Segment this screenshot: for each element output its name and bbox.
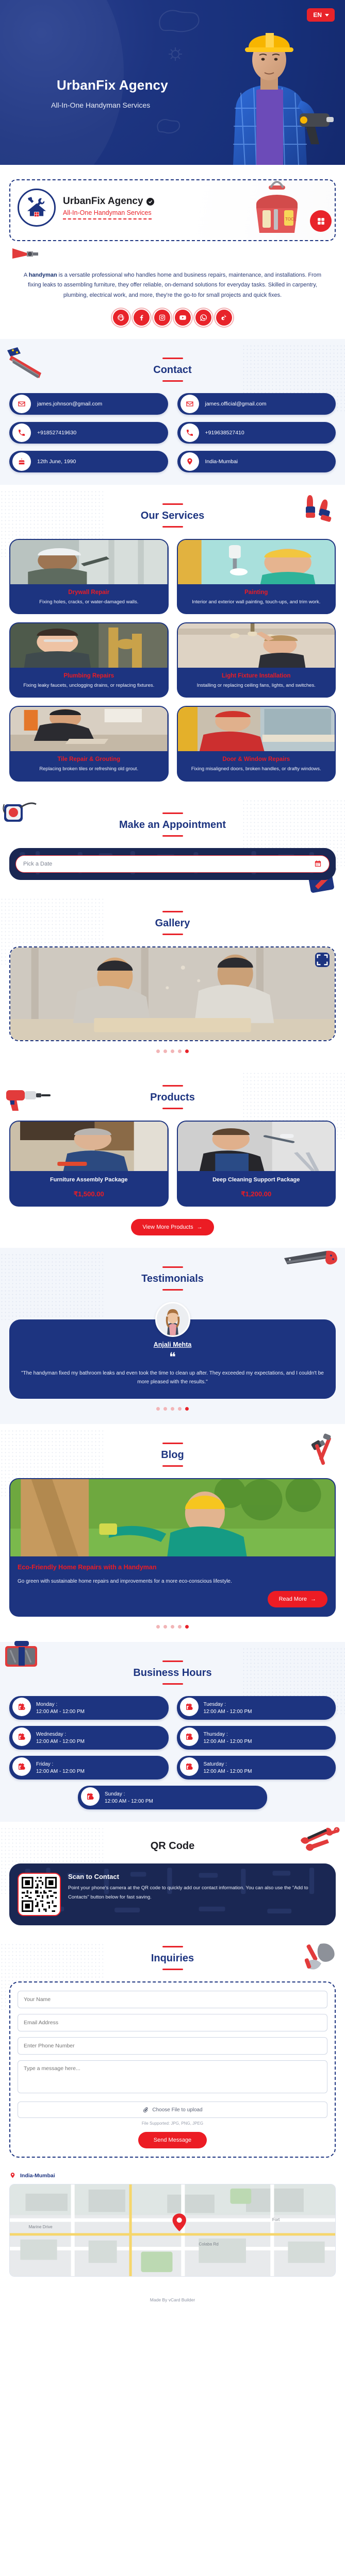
carousel-dot[interactable] (163, 1407, 167, 1411)
qr-code-image[interactable] (18, 1873, 61, 1916)
carousel-dot[interactable] (163, 1625, 167, 1629)
product-price: ₹1,200.00 (182, 1190, 331, 1198)
service-text: Painting Interior and exterior wall pain… (178, 584, 335, 613)
read-more-label: Read More (279, 1596, 307, 1602)
service-text: Plumbing Repairs Fixing leaky faucets, u… (10, 668, 168, 697)
services-title: Our Services (9, 503, 336, 528)
contact-title: Contact (9, 358, 336, 382)
gallery-title: Gallery (9, 911, 336, 935)
contact-item-phone-1[interactable]: +918527419630 (9, 422, 168, 444)
map-embed[interactable]: Marine Drive Colaba Rd Fort (9, 2184, 336, 2277)
contact-value: +918527419630 (37, 430, 76, 436)
carousel-dot[interactable] (178, 1407, 182, 1411)
testimonial-author: Anjali Mehta (21, 1341, 324, 1348)
qr-section: QR Code (0, 1822, 345, 1938)
gear-icon (168, 46, 183, 62)
contact-item-phone-2[interactable]: +919638527410 (177, 422, 336, 444)
carousel-dot[interactable] (163, 1049, 167, 1053)
name-input[interactable] (18, 1991, 327, 2008)
carousel-dot[interactable] (171, 1049, 174, 1053)
gallery-section: Gallery (0, 892, 345, 1066)
service-desc: Interior and exterior wall painting, tou… (183, 599, 330, 606)
hours-day-label: Thursday : (204, 1732, 331, 1737)
service-photo (178, 540, 335, 584)
carousel-dot-active[interactable] (185, 1049, 189, 1053)
hours-day-label: Wednesday : (36, 1732, 163, 1737)
contact-item-email-1[interactable]: james.johnson@gmail.com (9, 393, 168, 415)
blog-post-title: Eco-Friendly Home Repairs with a Handyma… (18, 1564, 327, 1571)
hero-blob-decoration-2 (155, 116, 180, 137)
service-card[interactable]: Light Fixture Installation Installing or… (177, 622, 336, 698)
hours-time-value: 12:00 AM - 12:00 PM (36, 1739, 163, 1744)
business-hours-sunday-row: Sunday : 12:00 AM - 12:00 PM (9, 1786, 336, 1809)
contact-value: India-Mumbai (205, 459, 238, 465)
products-grid: Furniture Assembly Package ₹1,500.00 (9, 1121, 336, 1207)
product-photo (178, 1122, 335, 1171)
email-input[interactable] (18, 2014, 327, 2031)
service-name: Tile Repair & Grouting (15, 756, 162, 762)
qr-card-text: Point your phone's camera at the QR code… (68, 1884, 327, 1901)
testimonial-card-wrap: Anjali Mehta ❝ "The handyman fixed my ba… (9, 1302, 336, 1399)
contact-section: Contact james.johnson@gmail.com james.of… (0, 339, 345, 485)
contact-item-email-2[interactable]: james.official@gmail.com (177, 393, 336, 415)
calendar-icon (314, 860, 322, 868)
blog-carousel-dots (9, 1617, 336, 1630)
handyman-hero-photo (205, 10, 334, 165)
carousel-dot[interactable] (171, 1407, 174, 1411)
email-icon (12, 395, 31, 413)
service-text: Tile Repair & Grouting Replacing broken … (10, 751, 168, 780)
carousel-dot[interactable] (156, 1407, 160, 1411)
carousel-dot[interactable] (171, 1625, 174, 1629)
carousel-dot[interactable] (156, 1049, 160, 1053)
appointment-card: Pick a Date (9, 848, 336, 880)
service-text: Door & Window Repairs Fixing misaligned … (178, 751, 335, 780)
hours-row-friday: Friday : 12:00 AM - 12:00 PM (9, 1756, 169, 1780)
inquiries-title: Inquiries (9, 1946, 336, 1970)
calendar-clock-icon (12, 1727, 31, 1746)
service-photo (10, 623, 168, 668)
hours-day-label: Friday : (36, 1761, 163, 1767)
hours-time-value: 12:00 AM - 12:00 PM (36, 1769, 163, 1774)
service-name: Plumbing Repairs (15, 673, 162, 679)
service-desc: Fixing misaligned doors, broken handles,… (183, 766, 330, 773)
service-photo (10, 540, 168, 584)
calendar-clock-icon (180, 1757, 199, 1776)
inquiries-section: Inquiries Choose File to upload File Sup… (0, 1938, 345, 2170)
view-more-products-button[interactable]: View More Products → (131, 1219, 213, 1235)
pliers-decoration (11, 244, 42, 263)
map-location-header: India-Mumbai (9, 2172, 336, 2179)
brand-name-row: UrbanFix Agency (63, 196, 154, 207)
arrow-right-icon: → (197, 1224, 203, 1230)
location-icon (9, 2172, 16, 2179)
vcard-page: EN UrbanFix Agency All-In-One Handyman S… (0, 0, 345, 2312)
hero-banner: EN UrbanFix Agency All-In-One Handyman S… (0, 0, 345, 165)
brand-logo-icon (18, 189, 56, 227)
expand-icon[interactable] (315, 953, 330, 967)
svg-text:Marine Drive: Marine Drive (29, 2225, 53, 2230)
location-icon (180, 452, 199, 471)
hours-time-value: 12:00 AM - 12:00 PM (204, 1769, 331, 1774)
service-card[interactable]: Tile Repair & Grouting Replacing broken … (9, 706, 169, 781)
hero-title: UrbanFix Agency (57, 77, 168, 93)
testimonial-text: "The handyman fixed my bathroom leaks an… (21, 1369, 324, 1386)
service-card[interactable]: Plumbing Repairs Fixing leaky faucets, u… (9, 622, 169, 698)
blog-photo (10, 1479, 335, 1556)
qr-text-block: Scan to Contact Point your phone's camer… (68, 1873, 327, 1901)
profile-card: TOOL (9, 179, 336, 241)
contact-item-birthday[interactable]: 12th June, 1990 (9, 451, 168, 472)
qr-shortcut-button[interactable] (310, 210, 332, 232)
contact-value: james.official@gmail.com (205, 401, 267, 407)
gallery-carousel-dots (9, 1041, 336, 1054)
toolbag-photo: TOOL (246, 177, 308, 239)
hours-time-value: 12:00 AM - 12:00 PM (36, 1709, 163, 1715)
calendar-clock-icon (81, 1787, 100, 1806)
product-price: ₹1,500.00 (14, 1190, 163, 1198)
read-more-button[interactable]: Read More → (268, 1591, 327, 1607)
service-card[interactable]: Door & Window Repairs Fixing misaligned … (177, 706, 336, 781)
file-upload-label: Choose File to upload (152, 2107, 202, 2113)
phone-input[interactable] (18, 2037, 327, 2055)
calendar-clock-icon (180, 1698, 199, 1716)
calendar-clock-icon (12, 1757, 31, 1776)
appointment-title: Make an Appointment (9, 812, 336, 837)
hero-subtitle: All-In-One Handyman Services (51, 101, 150, 109)
services-grid: Drywall Repair Fixing holes, cracks, or … (9, 539, 336, 782)
services-section: Our Services Drywall Repair Fixing holes… (0, 485, 345, 794)
service-name: Drywall Repair (15, 589, 162, 596)
gallery-photo (10, 947, 335, 1040)
service-text: Drywall Repair Fixing holes, cracks, or … (10, 584, 168, 613)
map-section: India-Mumbai Marine Drive (0, 2170, 345, 2289)
products-title: Products (9, 1085, 336, 1109)
testimonials-section: Testimonials Anjali Mehta ❝ "The handyma… (0, 1248, 345, 1424)
cake-icon (12, 452, 31, 471)
about-prefix: A (24, 272, 29, 278)
calendar-clock-icon (12, 1698, 31, 1716)
hours-row-thursday: Thursday : 12:00 AM - 12:00 PM (177, 1726, 336, 1750)
qr-content: Scan to Contact Point your phone's camer… (18, 1873, 327, 1916)
testimonial-carousel-dots (9, 1399, 336, 1412)
service-desc: Replacing broken tiles or refreshing old… (15, 766, 162, 773)
hero-blob-decoration (155, 5, 201, 36)
phone-icon (12, 423, 31, 442)
youtube-icon[interactable] (175, 310, 191, 326)
qr-title: QR Code (9, 1840, 336, 1852)
svg-text:Fort: Fort (272, 2218, 280, 2223)
service-photo (178, 623, 335, 668)
hours-day-label: Tuesday : (204, 1702, 331, 1707)
contact-value: +919638527410 (205, 430, 244, 436)
social-links (9, 302, 336, 336)
carousel-dot[interactable] (178, 1625, 182, 1629)
products-cta-row: View More Products → (9, 1219, 336, 1235)
product-text: Deep Cleaning Support Package ₹1,200.00 (178, 1171, 335, 1206)
brand-text-block: UrbanFix Agency All-In-One Handyman Serv… (63, 196, 154, 219)
about-body: is a versatile professional who handles … (28, 272, 321, 298)
service-photo (178, 707, 335, 751)
contact-list: james.johnson@gmail.com james.official@g… (9, 393, 336, 472)
carousel-dot[interactable] (178, 1049, 182, 1053)
service-name: Light Fixture Installation (183, 673, 330, 679)
service-card[interactable]: Painting Interior and exterior wall pain… (177, 539, 336, 614)
product-name: Deep Cleaning Support Package (182, 1176, 331, 1184)
hours-row-monday: Monday : 12:00 AM - 12:00 PM (9, 1696, 169, 1720)
qr-card-title: Scan to Contact (68, 1873, 327, 1880)
hours-day-label: Monday : (36, 1702, 163, 1707)
carousel-dot-active[interactable] (185, 1407, 189, 1411)
inquiry-form: Choose File to upload File Supported: JP… (9, 1981, 336, 2158)
contact-item-location[interactable]: India-Mumbai (177, 451, 336, 472)
map-canvas: Marine Drive Colaba Rd Fort (10, 2184, 335, 2276)
calendar-clock-icon (180, 1727, 199, 1746)
hours-row-wednesday: Wednesday : 12:00 AM - 12:00 PM (9, 1726, 169, 1750)
business-hours-title: Business Hours (9, 1660, 336, 1685)
brand-name: UrbanFix Agency (63, 196, 143, 207)
qr-card: Scan to Contact Point your phone's camer… (9, 1863, 336, 1925)
blog-post-desc: Go green with sustainable home repairs a… (18, 1577, 327, 1586)
website-icon[interactable] (113, 310, 129, 326)
view-more-label: View More Products (142, 1224, 193, 1230)
testimonials-title: Testimonials (9, 1266, 336, 1291)
brand-tagline: All-In-One Handyman Services (63, 209, 152, 219)
profile-section: TOOL (0, 165, 345, 339)
service-name: Painting (183, 589, 330, 596)
instagram-icon[interactable] (154, 310, 170, 326)
map-location-label: India-Mumbai (20, 2173, 55, 2179)
about-bold-word: handyman (29, 272, 57, 278)
blog-cta-row: Read More → (18, 1591, 327, 1607)
blog-section: Blog Eco-Friendly Home Repairs with a Ha… (0, 1424, 345, 1642)
avatar-photo (157, 1303, 189, 1335)
about-paragraph: A handyman is a versatile professional w… (9, 262, 336, 302)
carousel-dot[interactable] (156, 1625, 160, 1629)
phone-icon (180, 423, 199, 442)
gallery-image-card[interactable] (9, 946, 336, 1041)
service-desc: Installing or replacing ceiling fans, li… (183, 682, 330, 689)
hours-day-label: Saturday : (204, 1761, 331, 1767)
verified-badge-icon (146, 198, 154, 206)
contact-value: 12th June, 1990 (37, 459, 76, 465)
product-text: Furniture Assembly Package ₹1,500.00 (10, 1171, 168, 1206)
product-card[interactable]: Furniture Assembly Package ₹1,500.00 (9, 1121, 169, 1207)
quote-icon: ❝ (21, 1351, 324, 1364)
blog-post-card[interactable]: Eco-Friendly Home Repairs with a Handyma… (9, 1478, 336, 1617)
hours-time-value: 12:00 AM - 12:00 PM (105, 1799, 262, 1804)
service-text: Light Fixture Installation Installing or… (178, 668, 335, 697)
products-section: Products Furniture Assembly Package ₹1,5… (0, 1066, 345, 1248)
blog-body: Eco-Friendly Home Repairs with a Handyma… (10, 1556, 335, 1616)
footer-credit: Made By vCard Builder (0, 2289, 345, 2312)
tiktok-icon[interactable] (216, 310, 232, 326)
date-placeholder: Pick a Date (23, 861, 52, 867)
blog-title: Blog (9, 1443, 336, 1467)
service-card[interactable]: Drywall Repair Fixing holes, cracks, or … (9, 539, 169, 614)
date-picker-input[interactable]: Pick a Date (15, 855, 330, 873)
whatsapp-icon[interactable] (195, 310, 211, 326)
file-support-hint: File Supported: JPG, PNG, JPEG (18, 2121, 327, 2126)
carousel-dot-active[interactable] (185, 1625, 189, 1629)
hours-row-saturday: Saturday : 12:00 AM - 12:00 PM (177, 1756, 336, 1780)
product-photo (10, 1122, 168, 1171)
hours-row-tuesday: Tuesday : 12:00 AM - 12:00 PM (177, 1696, 336, 1720)
facebook-icon[interactable] (134, 310, 150, 326)
email-icon (180, 395, 199, 413)
service-name: Door & Window Repairs (183, 756, 330, 762)
product-name: Furniture Assembly Package (14, 1176, 163, 1184)
product-card[interactable]: Deep Cleaning Support Package ₹1,200.00 (177, 1121, 336, 1207)
send-message-button[interactable]: Send Message (138, 2132, 207, 2148)
hours-row-sunday: Sunday : 12:00 AM - 12:00 PM (78, 1786, 267, 1809)
hours-day-label: Sunday : (105, 1791, 262, 1797)
paperclip-icon (142, 2107, 149, 2113)
business-hours-section: Business Hours Monday : 12:00 AM - 12:00… (0, 1642, 345, 1822)
service-photo (10, 707, 168, 751)
service-desc: Fixing holes, cracks, or water-damaged w… (15, 599, 162, 606)
appointment-section: Make an Appointment Pick a Date (0, 794, 345, 892)
business-hours-grid: Monday : 12:00 AM - 12:00 PM Tuesday : 1… (9, 1696, 336, 1780)
message-textarea[interactable] (18, 2060, 327, 2093)
svg-text:TOOL: TOOL (285, 217, 297, 222)
svg-text:Colaba Rd: Colaba Rd (199, 2242, 218, 2247)
file-upload-button[interactable]: Choose File to upload (18, 2102, 327, 2118)
contact-value: james.johnson@gmail.com (37, 401, 102, 407)
hours-time-value: 12:00 AM - 12:00 PM (204, 1739, 331, 1744)
hours-time-value: 12:00 AM - 12:00 PM (204, 1709, 331, 1715)
arrow-right-icon: → (310, 1596, 316, 1602)
avatar (155, 1302, 190, 1337)
service-desc: Fixing leaky faucets, unclogging drains,… (15, 682, 162, 689)
